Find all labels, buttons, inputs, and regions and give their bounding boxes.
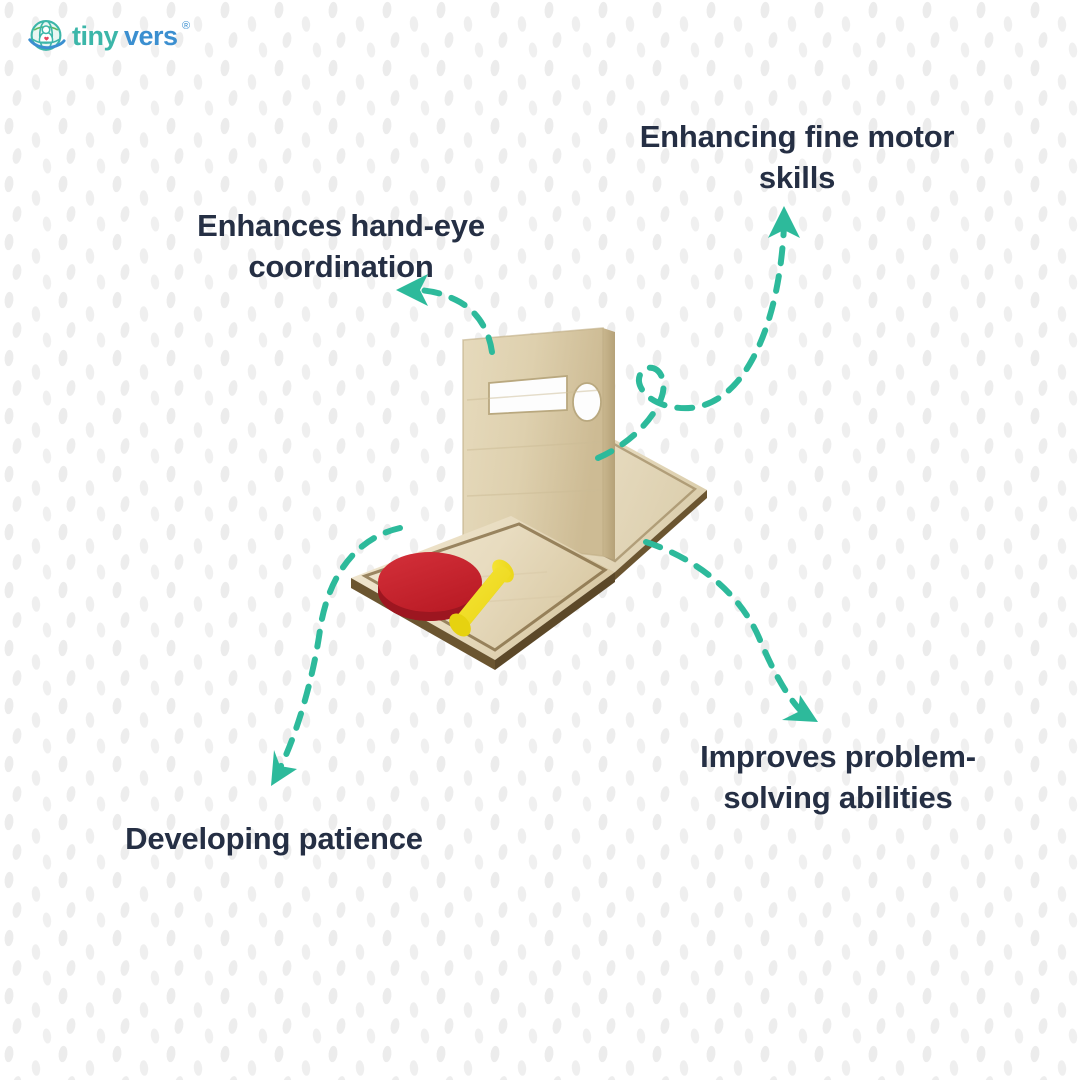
svg-text:tiny: tiny xyxy=(72,21,118,51)
svg-text:®: ® xyxy=(182,20,190,32)
vertical-board xyxy=(463,328,615,560)
callout-developing-patience: Developing patience xyxy=(76,818,472,859)
svg-text:vers: vers xyxy=(124,21,178,51)
callout-enhancing-fine-motor-skills: Enhancing fine motor skills xyxy=(604,116,990,198)
callout-improves-problem-solving-abilities: Improves problem-solving abilities xyxy=(660,736,1016,818)
infographic-canvas: tiny vers ® tinyvers xyxy=(0,0,1080,1080)
product-image-wooden-toy xyxy=(315,310,735,690)
brand-logo[interactable]: tiny vers ® tinyvers xyxy=(26,16,190,56)
callout-enhances-hand-eye-coordination: Enhances hand-eye coordination xyxy=(156,205,526,287)
brand-wordmark: tiny vers ® tinyvers xyxy=(72,18,190,54)
globe-swoosh-icon xyxy=(26,16,66,56)
